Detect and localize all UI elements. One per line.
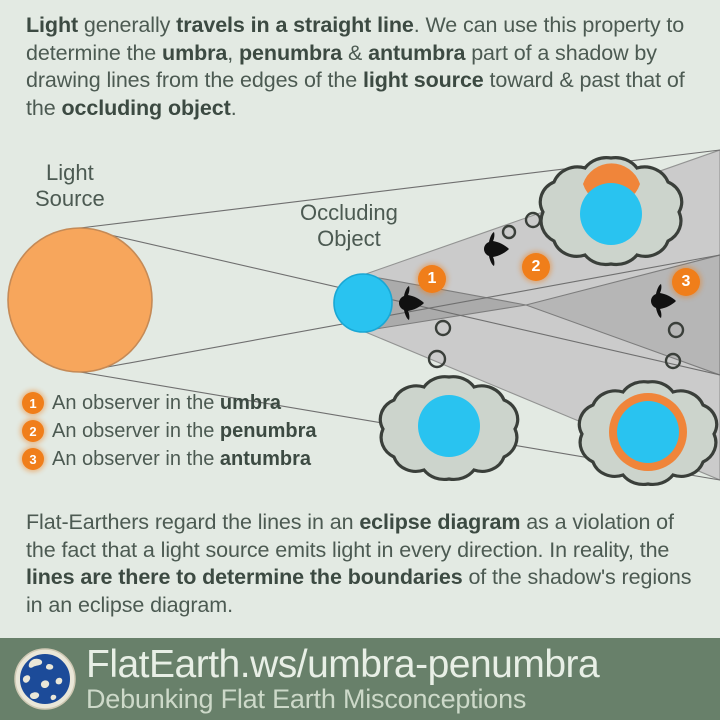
legend: 1 An observer in the umbra 2 An observer… — [22, 390, 317, 474]
thought-bubble-annular — [579, 382, 716, 485]
legend-label-umbra: An observer in the umbra — [52, 392, 281, 415]
light-source-label: Light Source — [35, 160, 105, 212]
thought-bubble-partial — [540, 158, 681, 265]
globe-icon — [14, 648, 76, 710]
legend-item-penumbra: 2 An observer in the penumbra — [22, 418, 317, 444]
banner-title[interactable]: FlatEarth.ws/umbra-penumbra — [86, 645, 720, 685]
legend-label-antumbra: An observer in the antumbra — [52, 448, 311, 471]
intro-paragraph: Light generally travels in a straight li… — [26, 12, 700, 122]
legend-label-penumbra: An observer in the penumbra — [52, 420, 317, 443]
explanation-paragraph: Flat-Earthers regard the lines in an ecl… — [26, 509, 700, 619]
infographic-page: Light generally travels in a straight li… — [0, 0, 720, 720]
marker-badge-2[interactable]: 2 — [522, 253, 550, 281]
site-banner: FlatEarth.ws/umbra-penumbra Debunking Fl… — [0, 638, 720, 720]
legend-item-umbra: 1 An observer in the umbra — [22, 390, 317, 416]
legend-badge-2: 2 — [22, 420, 44, 442]
thought-bubble-total — [380, 377, 517, 480]
legend-item-antumbra: 3 An observer in the antumbra — [22, 446, 317, 472]
light-source-circle — [8, 228, 152, 372]
legend-badge-1: 1 — [22, 392, 44, 414]
occluding-object-label: Occluding Object — [300, 200, 398, 252]
marker-badge-3[interactable]: 3 — [672, 268, 700, 296]
occluding-object-circle — [334, 274, 392, 332]
legend-badge-3: 3 — [22, 448, 44, 470]
marker-badge-1[interactable]: 1 — [418, 265, 446, 293]
banner-text-block: FlatEarth.ws/umbra-penumbra Debunking Fl… — [86, 645, 720, 714]
banner-subtitle: Debunking Flat Earth Misconceptions — [86, 685, 720, 714]
